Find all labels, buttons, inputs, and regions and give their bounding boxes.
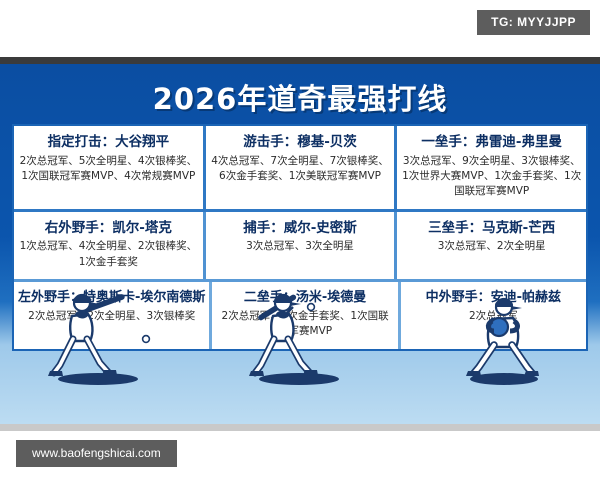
site-watermark: www.baofengshicai.com [16,440,177,467]
player-card-title: 游击手：穆基-贝茨 [210,134,391,151]
player-card-stats: 3次总冠军、3次全明星 [210,239,391,254]
player-card-stats: 3次总冠军、2次全明星 [401,239,582,254]
top-dark-divider [0,57,600,64]
player-card-title: 捕手：威尔-史密斯 [210,220,391,237]
bottom-gray-divider [0,424,600,431]
player-card-stats: 4次总冠军、7次全明星、7次银棒奖、6次金手套奖、1次美联冠军赛MVP [210,154,391,184]
player-card-stats: 3次总冠军、9次全明星、3次银棒奖、1次世界大赛MVP、1次金手套奖、1次国联冠… [401,154,582,200]
player-card-catcher[interactable]: 捕手：威尔-史密斯 3次总冠军、3次全明星 [206,212,398,279]
poster-panel: 2026年道奇最强打线 指定打击：大谷翔平 2次总冠军、5次全明星、4次银棒奖、… [0,64,600,424]
player-card-stats: 2次总冠军、5次全明星、4次银棒奖、1次国联冠军赛MVP、4次常规赛MVP [18,154,199,184]
player-card-title: 一垒手：弗雷迪-弗里曼 [401,134,582,151]
player-card-third-base[interactable]: 三垒手：马克斯-芒西 3次总冠军、2次全明星 [397,212,586,279]
player-illustrations [0,286,600,401]
page-title: 2026年道奇最强打线 [0,76,600,118]
player-card-right-field[interactable]: 右外野手：凯尔-塔克 1次总冠军、4次全明星、2次银棒奖、1次金手套奖 [14,212,206,279]
lineup-row: 右外野手：凯尔-塔克 1次总冠军、4次全明星、2次银棒奖、1次金手套奖 捕手：威… [14,212,586,282]
player-card-stats: 1次总冠军、4次全明星、2次银棒奖、1次金手套奖 [18,239,199,269]
player-card-title: 三垒手：马克斯-芒西 [401,220,582,237]
player-card-title: 右外野手：凯尔-塔克 [18,220,199,237]
baseball-fielder-illustration [452,283,562,393]
player-card-dh[interactable]: 指定打击：大谷翔平 2次总冠军、5次全明星、4次银棒奖、1次国联冠军赛MVP、4… [14,126,206,209]
tg-watermark: TG: MYYJJPP [477,10,590,35]
footer-strip: www.baofengshicai.com [0,431,600,480]
baseball-batter-illustration [42,283,162,393]
baseball-batter-illustration [243,283,363,393]
player-card-shortstop[interactable]: 游击手：穆基-贝茨 4次总冠军、7次全明星、7次银棒奖、6次金手套奖、1次美联冠… [206,126,398,209]
lineup-row: 指定打击：大谷翔平 2次总冠军、5次全明星、4次银棒奖、1次国联冠军赛MVP、4… [14,126,586,212]
player-card-first-base[interactable]: 一垒手：弗雷迪-弗里曼 3次总冠军、9次全明星、3次银棒奖、1次世界大赛MVP、… [397,126,586,209]
top-white-strip: TG: MYYJJPP [0,0,600,57]
player-card-title: 指定打击：大谷翔平 [18,134,199,151]
